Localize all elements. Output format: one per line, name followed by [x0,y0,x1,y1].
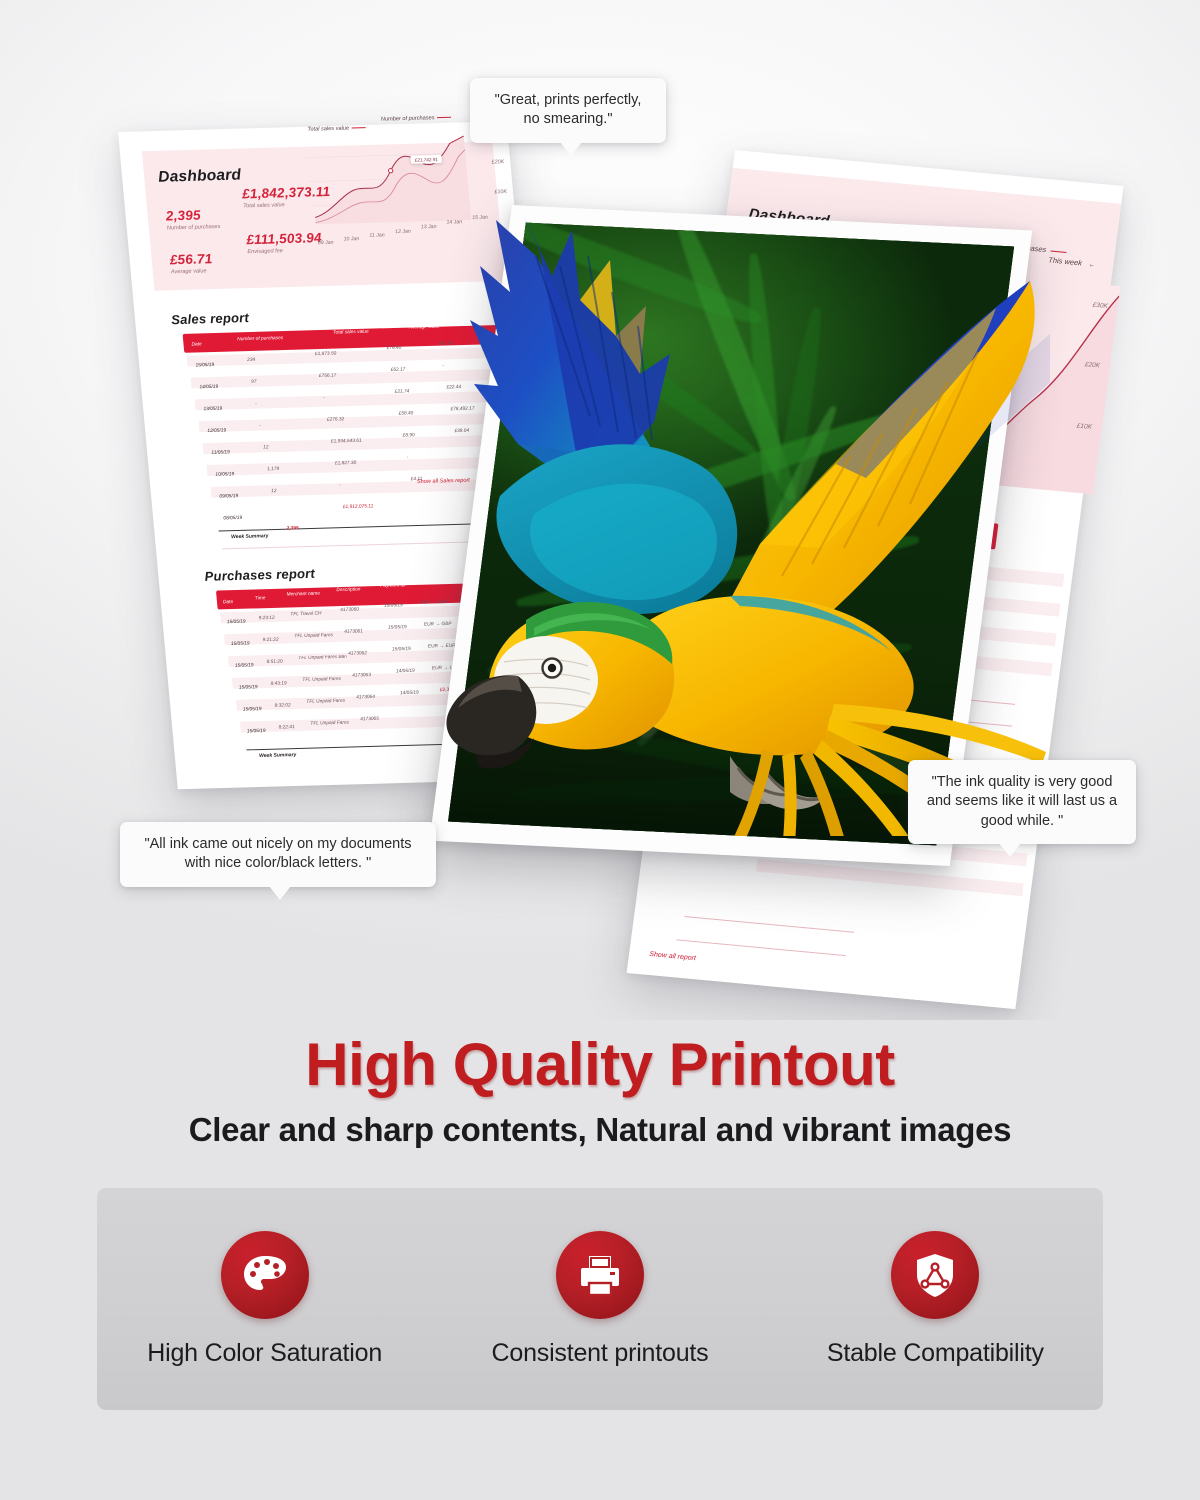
testimonial-bubble-right: "The ink quality is very good and seems … [908,760,1136,844]
table-row [203,434,520,454]
stat-envisaged-fee: £111,503.94 Envisaged fee [246,230,323,255]
feature-high-color-saturation: High Color Saturation [97,1188,432,1410]
feature-panel: High Color Saturation Consistent printou… [97,1188,1103,1410]
front-chart-area: Total sales value Number of purchases £2… [304,127,509,242]
front-x-tick-5: 14 Jan [446,219,462,225]
chevron-down-icon: ⌄ [1086,259,1095,269]
front-legend-num-purchases: Number of purchases [381,115,452,123]
testimonial-bubble-left: "All ink came out nicely on my documents… [120,822,436,887]
printer-icon [556,1231,644,1319]
feature-label: Stable Compatibility [827,1339,1044,1368]
sales-summary-label: Week Summary [231,533,269,540]
purchases-report-title: Purchases report [204,566,316,584]
sales-summary-value: 2,395 [286,526,298,531]
front-y-tick-2: £10K [494,189,507,195]
front-x-tick-3: 12 Jan [395,229,411,235]
headline-sub: Clear and sharp contents, Natural and vi… [0,1111,1200,1149]
back-y-tick-2: £10K [1076,423,1092,431]
feature-label: Consistent printouts [492,1339,709,1368]
front-y-tick-1: £20K [491,159,504,165]
hero-scene: Dashboard Total sales value Number of pu… [0,0,1200,1020]
shield-network-icon [891,1231,979,1319]
front-chart-svg [304,134,488,225]
jungle-photo [448,223,1014,846]
back-period-selector[interactable]: This week⌄ [1048,255,1095,268]
front-chart-tooltip: £21,742.91 [410,155,442,164]
front-legend-total-sales: Total sales value [307,125,366,133]
back-show-all-link-2[interactable]: Show all report [649,951,696,962]
front-x-tick-6: 15 Jan [472,215,488,221]
front-x-tick-1: 10 Jan [343,236,359,242]
stat-average-value: £56.71 Average value [169,251,214,275]
headline-main: High Quality Printout [0,1030,1200,1099]
sales-report-title: Sales report [171,310,250,327]
feature-label: High Color Saturation [147,1339,382,1368]
front-x-tick-4: 13 Jan [421,224,437,230]
back-y-tick-0: £30K [1092,302,1108,310]
front-x-tick-2: 11 Jan [369,232,385,238]
feature-stable-compatibility: Stable Compatibility [768,1188,1103,1410]
front-dashboard-title: Dashboard [158,167,243,187]
front-x-tick-0: 09 Jan [318,240,334,246]
back-y-tick-1: £20K [1084,361,1100,369]
feature-consistent-printouts: Consistent printouts [432,1188,767,1410]
stat-number-of-purchases: 2,395 Number of purchases [165,207,221,231]
testimonial-bubble-top: "Great, prints perfectly, no smearing." [470,78,666,143]
headline-block: High Quality Printout Clear and sharp co… [0,1030,1200,1149]
purchases-summary-label: Week Summary [259,752,297,759]
color-palette-icon [221,1231,309,1319]
